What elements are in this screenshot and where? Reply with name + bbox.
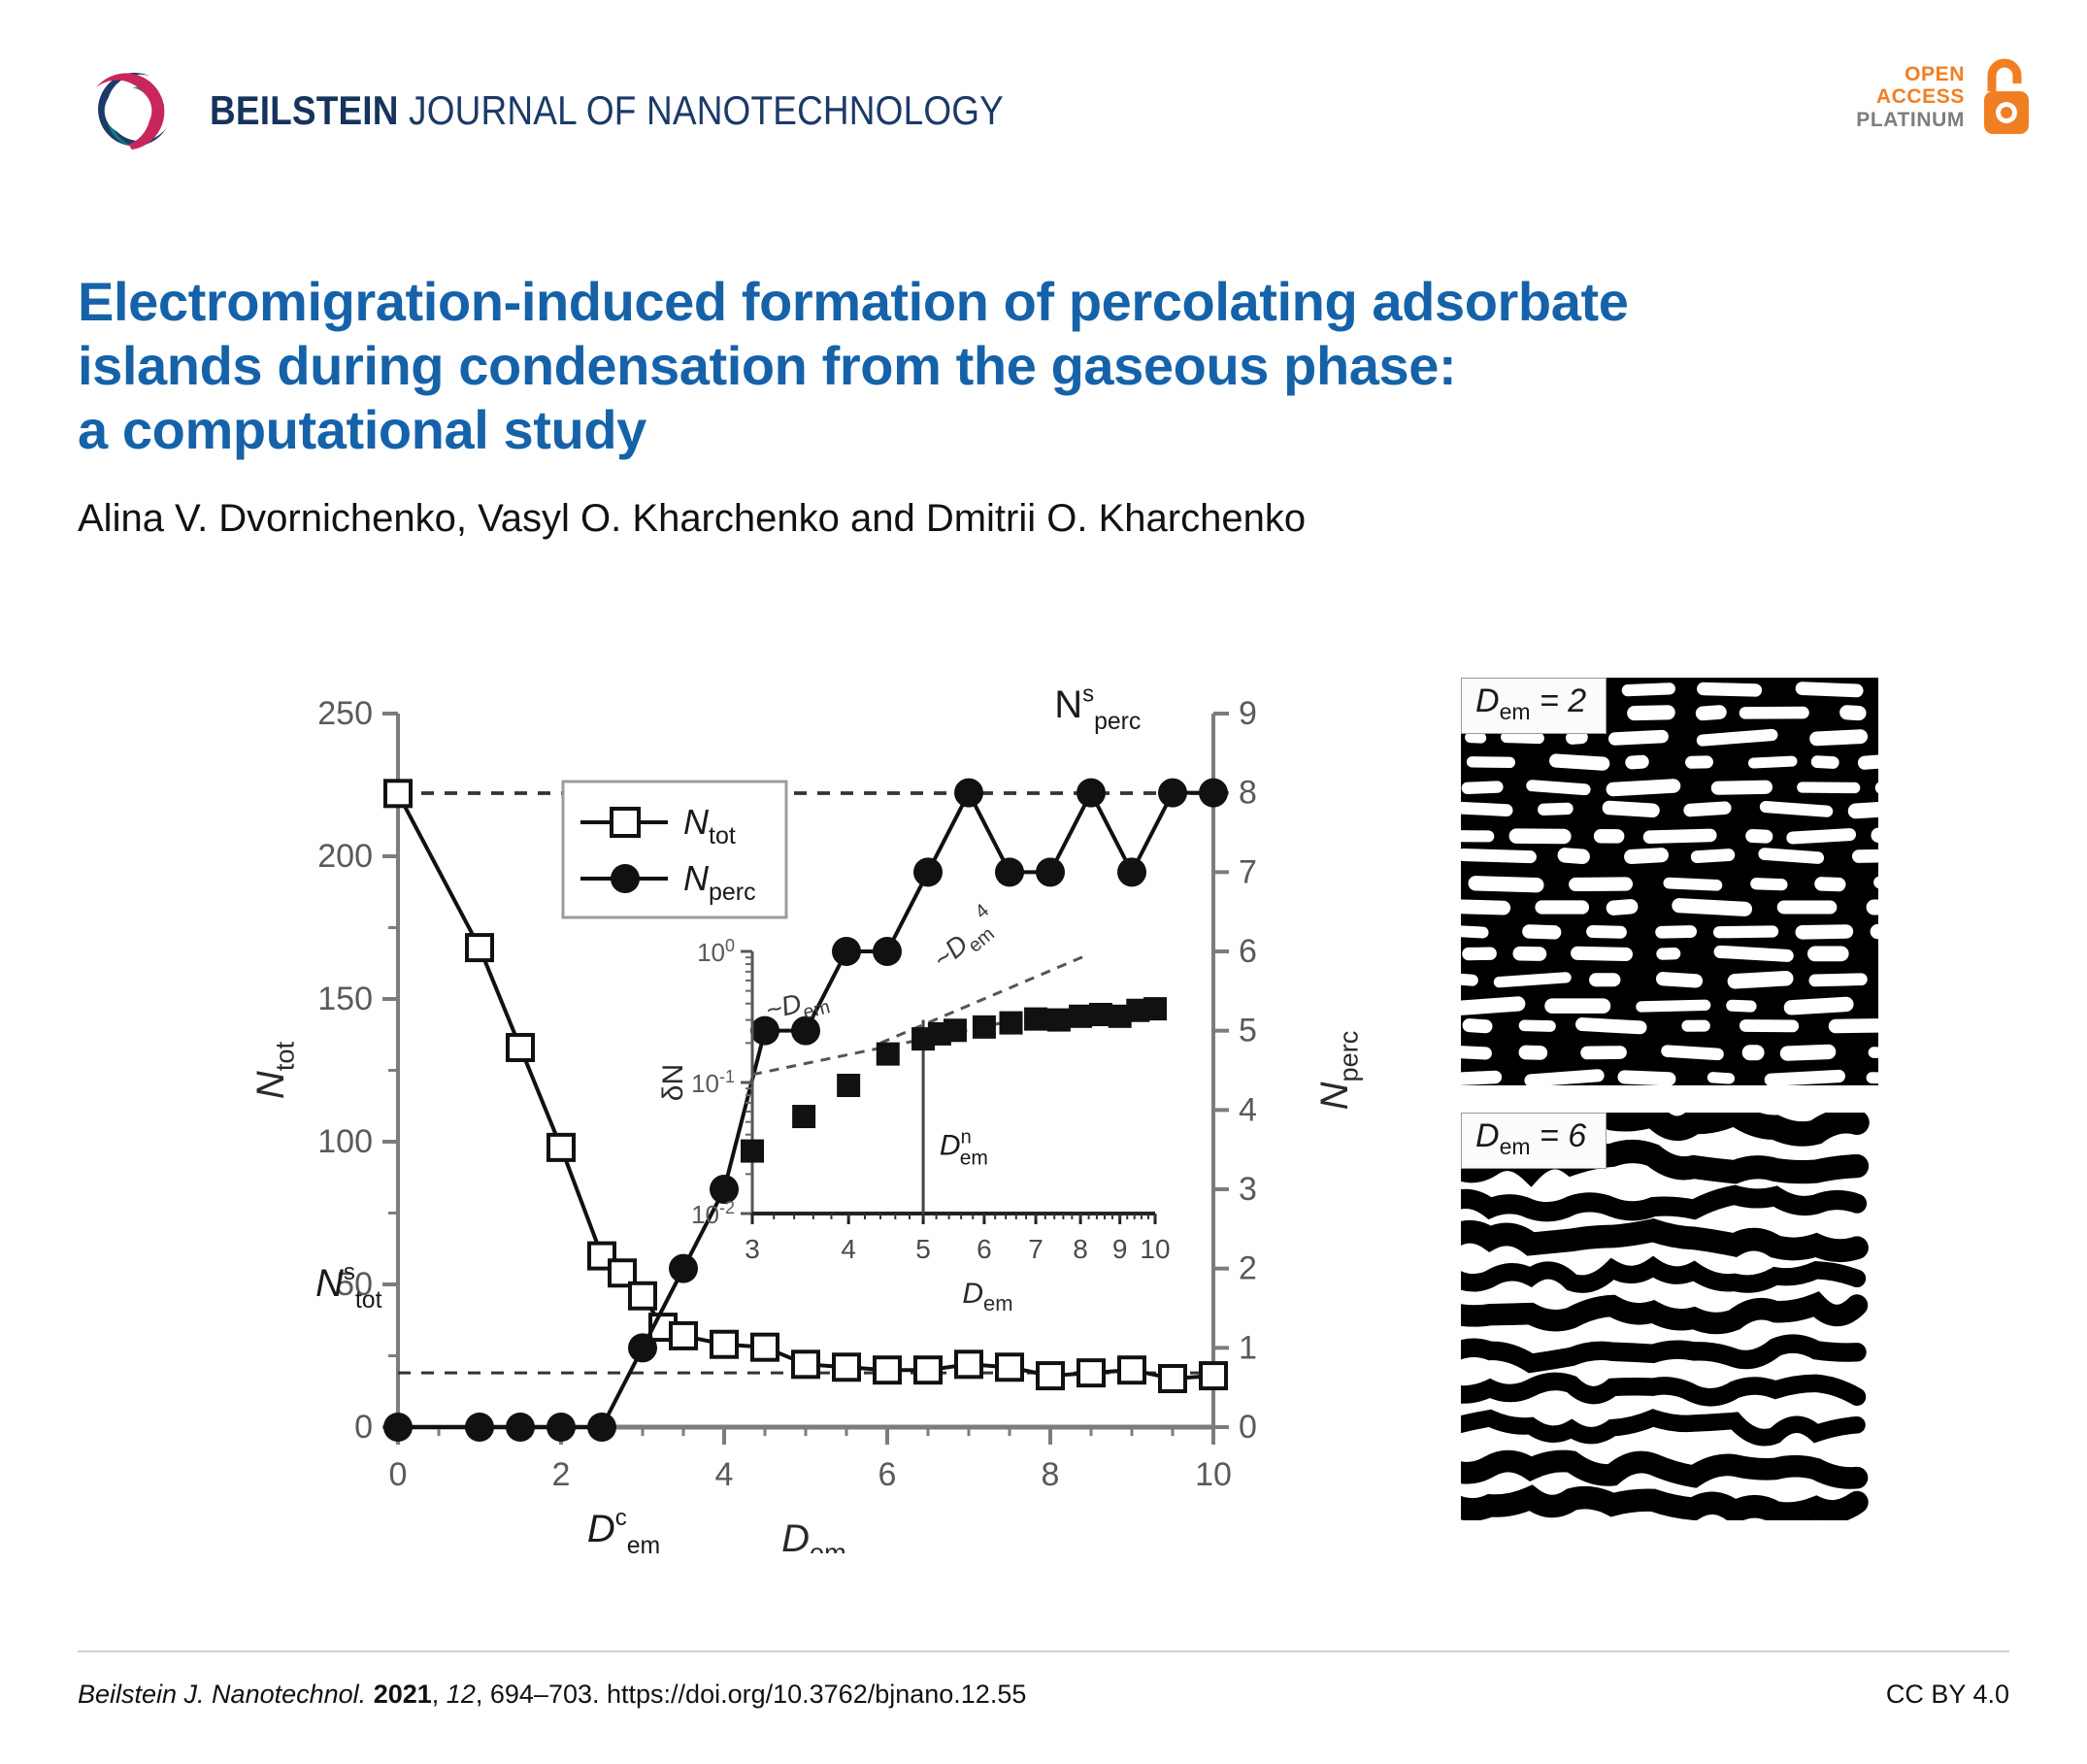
adsorbate-island: [1461, 925, 1489, 939]
title-block: Electromigration-induced formation of pe…: [78, 270, 2009, 541]
inset-y-tick-label: 100: [697, 936, 735, 967]
data-point-N_tot: [793, 1351, 818, 1377]
inset-x-tick-label: 8: [1073, 1234, 1088, 1264]
adsorbate-island: [1589, 973, 1620, 986]
adsorbate-island: [1535, 900, 1589, 914]
inset-data-point: [1000, 1012, 1023, 1035]
y-right-tick-label: 2: [1239, 1250, 1257, 1287]
page-header: BEILSTEIN JOURNAL OF NANOTECHNOLOGY OPEN…: [0, 0, 2087, 184]
adsorbate-island: [1780, 1044, 1837, 1061]
page-title-line-2: islands during condensation from the gas…: [78, 334, 2009, 398]
page-title: Electromigration-induced formation of pe…: [78, 270, 2009, 462]
data-point-N_tot: [752, 1335, 778, 1360]
x-tick-label: 4: [715, 1456, 734, 1493]
svg-text:Nperc: Nperc: [1313, 1031, 1363, 1111]
data-point-N_perc: [1158, 779, 1187, 808]
x-tick-label: 10: [1195, 1456, 1232, 1493]
inset-x-tick-label: 7: [1028, 1234, 1043, 1264]
y-right-tick-label: 0: [1239, 1409, 1257, 1446]
data-point-N_tot: [915, 1357, 941, 1382]
adsorbate-island: [1461, 830, 1494, 842]
inset-data-point: [837, 1074, 860, 1097]
license-label: CC BY 4.0: [1886, 1680, 2009, 1710]
figure-area: 05010015020025001234567890246810NtotNper…: [0, 660, 2087, 1553]
inset-x-tick-label: 10: [1140, 1234, 1170, 1264]
snapshot-column: Dem = 2 Dem = 6: [1461, 678, 2024, 1542]
inset-x-tick-label: 3: [745, 1234, 760, 1264]
page-footer: Beilstein J. Nanotechnol. 2021, 12, 694–…: [78, 1680, 2009, 1710]
svg-text:Dcem: Dcem: [587, 1505, 660, 1553]
data-point-N_tot: [875, 1357, 900, 1382]
inset-data-point: [1143, 997, 1167, 1020]
adsorbate-island: [1636, 999, 1710, 1012]
adsorbate-island: [1852, 849, 1878, 863]
adsorbate-island: [1519, 1019, 1556, 1032]
open-access-text: OPEN ACCESS PLATINUM: [1856, 63, 1965, 132]
x-tick-label: 6: [878, 1456, 897, 1493]
adsorbate-island: [1461, 1046, 1492, 1060]
x-axis-title: Dem: [781, 1517, 846, 1553]
inset-chart: 10-210-1100345678910~Dem~Dem4DnemδNDem: [657, 900, 1171, 1315]
citation-year: 2021: [374, 1680, 432, 1709]
adsorbate-island: [1569, 877, 1633, 891]
beilstein-spiral-logo: [76, 58, 181, 163]
y-left-tick-label: 150: [317, 981, 373, 1017]
data-point-N_perc: [1036, 857, 1065, 886]
inset-x-axis-title: Dem: [962, 1278, 1012, 1315]
adsorbate-island: [1795, 682, 1863, 698]
data-point-N_perc: [383, 1413, 413, 1442]
adsorbate-island: [1625, 754, 1649, 769]
data-point-N_tot: [385, 781, 411, 806]
data-point-N_tot: [997, 1354, 1022, 1380]
adsorbate-island: [1656, 948, 1680, 960]
main-chart: 05010015020025001234567890246810NtotNper…: [223, 660, 1398, 1553]
data-point-N_perc: [913, 857, 943, 886]
data-point-N_tot: [1038, 1363, 1063, 1388]
inset-guide-label-quartic: ~Dem4: [923, 900, 1007, 980]
d-em-n-label: Dnem: [940, 1127, 988, 1170]
data-point-N_perc: [954, 779, 983, 808]
adsorbate-island: [1522, 924, 1562, 940]
data-point-N_tot: [467, 935, 492, 960]
y-right-tick-label: 5: [1239, 1013, 1257, 1049]
adsorbate-island: [1643, 828, 1717, 844]
citation-journal: Beilstein J. Nanotechnol.: [78, 1680, 366, 1709]
x-tick-label: 0: [389, 1456, 408, 1493]
adsorbate-island: [1711, 781, 1772, 795]
adsorbate-island: [1538, 802, 1574, 815]
percolating-stripe: [1461, 1195, 1857, 1212]
data-point-N_perc: [1077, 779, 1106, 808]
page-title-line-3: a computational study: [78, 398, 2009, 462]
adsorbate-island: [1797, 782, 1860, 793]
adsorbate-island: [1462, 947, 1497, 960]
data-point-N_perc: [628, 1333, 657, 1362]
adsorbate-island: [1713, 925, 1778, 938]
journal-title-bold: BEILSTEIN: [210, 87, 399, 133]
adsorbate-island: [1697, 682, 1762, 697]
adsorbate-island: [1681, 1020, 1709, 1032]
oa-line-open: OPEN: [1905, 63, 1965, 86]
adsorbate-island: [1777, 900, 1838, 914]
adsorbate-island: [1461, 1070, 1502, 1085]
citation-pages: 694–703.: [490, 1680, 600, 1709]
adsorbate-island: [1627, 705, 1675, 720]
journal-title-light: JOURNAL OF NANOTECHNOLOGY: [399, 87, 1004, 133]
inset-data-point: [1024, 1008, 1047, 1031]
data-point-N_perc: [1199, 779, 1228, 808]
adsorbate-island: [1739, 1019, 1799, 1032]
y-axis-left-title: Ntot: [249, 1041, 299, 1099]
y-left-tick-label: 0: [354, 1409, 373, 1446]
adsorbate-island: [1795, 924, 1853, 940]
inset-x-tick-label: 5: [915, 1234, 931, 1264]
percolating-stripe: [1461, 1304, 1857, 1323]
y-right-tick-label: 9: [1239, 695, 1257, 732]
snapshot-dem-6: Dem = 6: [1461, 1113, 1878, 1520]
snapshot-dem-6-image: [1461, 1113, 1878, 1520]
data-point-N_tot: [630, 1283, 655, 1309]
adsorbate-island: [1468, 876, 1543, 893]
adsorbate-island: [1621, 682, 1675, 696]
snapshot-dem-2-label: Dem = 2: [1461, 678, 1607, 734]
adsorbate-island: [1509, 828, 1572, 844]
adsorbate-island: [1518, 1045, 1547, 1060]
citation-volume: 12: [447, 1680, 476, 1709]
svg-text:Dem: Dem: [781, 1517, 846, 1553]
svg-text:Ntot: Ntot: [249, 1041, 299, 1099]
x-tick-label: 8: [1042, 1456, 1060, 1493]
adsorbate-island: [1750, 878, 1788, 891]
snapshot-dem-6-label: Dem = 6: [1461, 1113, 1607, 1169]
data-point-N_perc: [506, 1413, 535, 1442]
inset-data-point: [741, 1140, 764, 1163]
series-line-N_tot: [398, 793, 1213, 1379]
x-tick-label: 2: [552, 1456, 571, 1493]
journal-title: BEILSTEIN JOURNAL OF NANOTECHNOLOGY: [210, 87, 1004, 134]
adsorbate-island: [1739, 707, 1809, 719]
adsorbate-island: [1580, 1046, 1627, 1059]
adsorbate-island: [1461, 849, 1537, 864]
adsorbate-island: [1814, 877, 1846, 892]
inset-y-tick-label: 10-2: [691, 1198, 735, 1229]
open-access-badge: OPEN ACCESS PLATINUM: [1856, 56, 2037, 138]
adsorbate-island: [1462, 1018, 1493, 1034]
y-right-tick-label: 4: [1239, 1091, 1257, 1128]
data-point-N_tot: [712, 1332, 737, 1357]
author-list: Alina V. Dvornichenko, Vasyl O. Kharchen…: [78, 497, 2009, 541]
adsorbate-island: [1807, 946, 1849, 961]
oa-line-access: ACCESS: [1876, 85, 1965, 109]
y-right-tick-label: 1: [1239, 1329, 1257, 1366]
inset-y-tick-label: 10-1: [691, 1067, 735, 1098]
adsorbate-island: [1706, 1072, 1735, 1084]
data-point-N_tot: [956, 1351, 981, 1377]
data-point-N_perc: [832, 937, 861, 966]
n-perc-s-annotation: Nsperc: [1054, 681, 1141, 735]
inset-data-point: [792, 1105, 815, 1128]
y-right-tick-label: 7: [1239, 853, 1257, 890]
data-point-N_perc: [995, 857, 1024, 886]
journal-brand: BEILSTEIN JOURNAL OF NANOTECHNOLOGY: [76, 58, 1112, 163]
adsorbate-island: [1829, 1018, 1878, 1033]
data-point-N_tot: [671, 1323, 696, 1348]
adsorbate-island: [1571, 947, 1633, 961]
inset-data-point: [1047, 1009, 1071, 1032]
data-point-N_tot: [834, 1354, 859, 1380]
data-point-N_perc: [547, 1413, 576, 1442]
snapshot-dem-2: Dem = 2: [1461, 678, 1878, 1085]
citation-text: Beilstein J. Nanotechnol. 2021, 12, 694–…: [78, 1680, 1026, 1710]
inset-data-point: [1069, 1005, 1092, 1028]
footer-divider: [78, 1650, 2009, 1652]
y-right-tick-label: 8: [1239, 775, 1257, 812]
adsorbate-island: [1726, 999, 1757, 1012]
adsorbate-island: [1810, 755, 1839, 769]
adsorbate-island: [1617, 1070, 1676, 1085]
y-left-tick-label: 100: [317, 1123, 373, 1160]
data-point-N_perc: [1117, 857, 1146, 886]
data-point-N_tot: [1119, 1357, 1144, 1382]
inset-data-point: [877, 1043, 900, 1066]
d-em-c-annotation: Dcem: [587, 1505, 660, 1553]
y-right-tick-label: 3: [1239, 1171, 1257, 1208]
data-point-N_perc: [873, 937, 902, 966]
adsorbate-island: [1557, 848, 1590, 865]
inset-y-axis-title: δN: [657, 1064, 689, 1101]
inset-x-tick-label: 6: [977, 1234, 992, 1264]
data-point-N_perc: [587, 1413, 616, 1442]
citation-doi-link[interactable]: https://doi.org/10.3762/bjnano.12.55: [607, 1680, 1026, 1709]
data-point-N_tot: [1160, 1366, 1185, 1391]
open-padlock-icon: [1976, 56, 2037, 138]
adsorbate-island: [1606, 899, 1639, 916]
adsorbate-island: [1655, 925, 1697, 939]
inset-data-point: [944, 1018, 967, 1042]
adsorbate-island: [1695, 705, 1727, 721]
inset-data-point: [973, 1015, 996, 1039]
adsorbate-island: [1745, 829, 1773, 844]
adsorbate-island: [1586, 925, 1627, 939]
data-point-N_tot: [1078, 1360, 1104, 1385]
inset-x-tick-label: 9: [1112, 1234, 1128, 1264]
data-point-N_tot: [1201, 1363, 1226, 1388]
adsorbate-island: [1461, 781, 1503, 794]
data-point-N_perc: [669, 1254, 698, 1283]
adsorbate-island: [1624, 848, 1670, 865]
adsorbate-island: [1656, 972, 1704, 988]
oa-line-platinum: PLATINUM: [1856, 109, 1965, 132]
data-point-N_tot: [548, 1135, 574, 1160]
data-point-N_perc: [465, 1413, 494, 1442]
adsorbate-island: [1809, 729, 1869, 747]
data-point-N_tot: [508, 1035, 533, 1060]
page-title-line-1: Electromigration-induced formation of pe…: [78, 270, 2009, 334]
y-right-tick-label: 6: [1239, 933, 1257, 970]
adsorbate-island: [1685, 755, 1713, 769]
adsorbate-island: [1808, 973, 1868, 986]
adsorbate-island: [1742, 1045, 1765, 1060]
y-left-tick-label: 200: [317, 838, 373, 875]
inset-x-tick-label: 4: [841, 1234, 856, 1264]
svg-text:Nsperc: Nsperc: [1054, 681, 1141, 735]
adsorbate-island: [1512, 947, 1546, 961]
adsorbate-island: [1839, 705, 1867, 721]
adsorbate-island: [1467, 756, 1515, 768]
y-left-tick-label: 250: [317, 695, 373, 732]
adsorbate-island: [1594, 829, 1625, 844]
adsorbate-island: [1461, 899, 1510, 915]
adsorbate-island: [1544, 998, 1610, 1014]
snapshot-dem-2-image: [1461, 678, 1878, 1085]
y-axis-right-title: Nperc: [1313, 1031, 1363, 1111]
